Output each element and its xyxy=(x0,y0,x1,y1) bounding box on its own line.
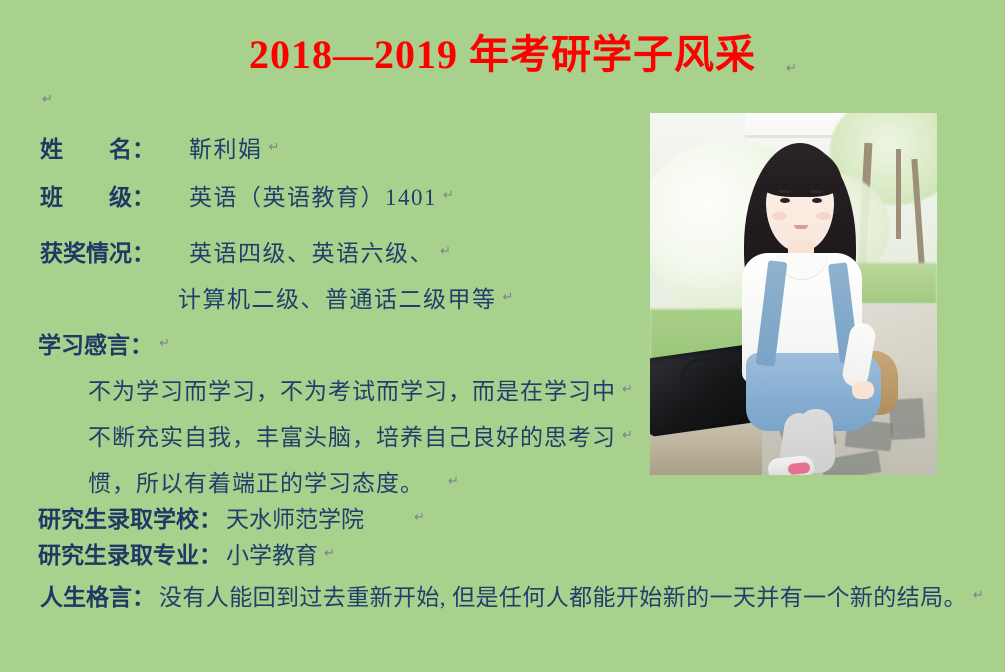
field-motto-row: 人生格言： 没有人能回到过去重新开始, 但是任何人都能开始新的一天并有一个新的结… xyxy=(40,578,984,612)
reflection-line-3: 惯，所以有着端正的学习态度。 xyxy=(88,471,424,496)
reflection-line-3-row: 惯，所以有着端正的学习态度。 ↵ xyxy=(88,472,459,495)
field-class-row: 班 级： 英语（英语教育）1401 ↵ xyxy=(40,186,454,209)
field-grad-school-label: 研究生录取学校： xyxy=(38,507,222,532)
pilcrow-mark-name: ↵ xyxy=(269,140,280,155)
field-reflection-label: 学习感言： xyxy=(38,333,153,358)
field-awards-row-2: 计算机二级、普通话二级甲等 ↵ xyxy=(178,288,513,311)
photo-girl-brow-left xyxy=(778,190,791,193)
field-motto-value: 没有人能回到过去重新开始, 但是任何人都能开始新的一天并有一个新的结局。 xyxy=(159,585,967,610)
pilcrow-mark-title: ↵ xyxy=(786,62,797,75)
pilcrow-mark-awards-2: ↵ xyxy=(503,290,514,305)
pilcrow-mark-reflection: ↵ xyxy=(159,336,170,351)
field-grad-major-label: 研究生录取专业： xyxy=(38,543,222,568)
photo-girl-hand xyxy=(852,381,874,399)
photo-girl-eye-right xyxy=(812,198,822,203)
pilcrow-mark-grad-school: ↵ xyxy=(414,510,425,525)
photo-girl-mouth xyxy=(794,225,808,229)
reflection-line-1: 不为学习而学习，不为考试而学习，而是在学习中 xyxy=(88,379,616,404)
field-grad-school-value: 天水师范学院 xyxy=(226,507,364,532)
photo-girl-blush-left xyxy=(772,212,787,220)
pilcrow-mark-class: ↵ xyxy=(443,188,454,203)
photo-girl-eye-left xyxy=(780,198,790,203)
field-motto-label: 人生格言： xyxy=(40,585,155,610)
pilcrow-mark-motto: ↵ xyxy=(973,588,984,603)
field-class-value: 英语（英语教育）1401 xyxy=(189,185,437,210)
poster-page: 2018—2019 年考研学子风采 ↵ ↵ 姓 名： 靳利娟 ↵ 班 级： 英语… xyxy=(0,0,1005,672)
field-awards-label: 获奖情况： xyxy=(40,241,155,266)
photo-girl-brow-right xyxy=(810,190,823,193)
reflection-line-2-row: 不断充实自我，丰富头脑，培养自己良好的思考习 ↵ xyxy=(88,426,633,449)
pilcrow-mark-awards-1: ↵ xyxy=(440,244,451,259)
student-photo xyxy=(650,113,937,475)
field-awards-value-line1: 英语四级、英语六级、 xyxy=(189,241,434,266)
field-awards-row: 获奖情况： 英语四级、英语六级、 ↵ xyxy=(40,242,451,265)
field-name-row: 姓 名： 靳利娟 ↵ xyxy=(40,138,279,161)
field-grad-major-row: 研究生录取专业： 小学教育 ↵ xyxy=(38,544,335,567)
field-class-label: 班 级： xyxy=(40,185,155,210)
pilcrow-mark-refl-1: ↵ xyxy=(622,382,633,397)
pilcrow-mark-refl-2: ↵ xyxy=(622,428,633,443)
reflection-line-1-row: 不为学习而学习，不为考试而学习，而是在学习中 ↵ xyxy=(88,380,633,403)
pilcrow-mark-grad-major: ↵ xyxy=(324,546,335,561)
pilcrow-mark-refl-3: ↵ xyxy=(448,474,459,489)
field-awards-value-line2: 计算机二级、普通话二级甲等 xyxy=(178,287,497,312)
field-name-label: 姓 名： xyxy=(40,137,155,162)
field-reflection-label-row: 学习感言： ↵ xyxy=(38,334,170,357)
reflection-line-2: 不断充实自我，丰富头脑，培养自己良好的思考习 xyxy=(88,425,616,450)
photo-girl-blush-right xyxy=(816,212,831,220)
field-grad-school-row: 研究生录取学校： 天水师范学院 ↵ xyxy=(38,508,425,531)
info-column: 姓 名： 靳利娟 ↵ 班 级： 英语（英语教育）1401 ↵ 获奖情况： 英语四… xyxy=(0,0,660,672)
field-grad-major-value: 小学教育 xyxy=(226,543,318,568)
photo-tree-trunk-3 xyxy=(896,149,901,239)
field-name-value: 靳利娟 xyxy=(189,137,263,162)
